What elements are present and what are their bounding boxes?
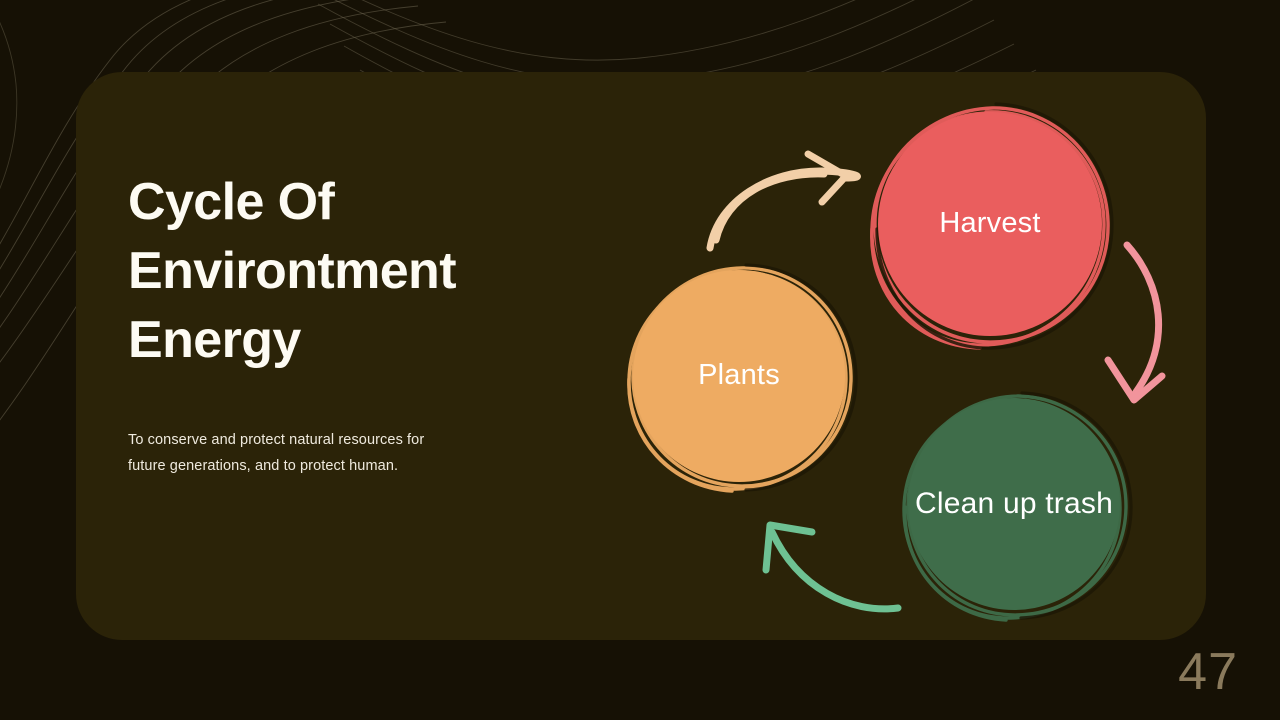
- cycle-node-plants-label: Plants: [698, 357, 780, 394]
- page-number: 47: [1178, 642, 1238, 702]
- arrow-harvest-to-trash-icon: [1108, 245, 1162, 400]
- description-text: To conserve and protect natural resource…: [128, 428, 428, 480]
- arrow-trash-to-plants-icon: [766, 525, 898, 609]
- cycle-node-harvest-label: Harvest: [939, 205, 1040, 242]
- cycle-node-plants[interactable]: Plants: [633, 270, 845, 482]
- cycle-node-clean-up-trash[interactable]: Clean up trash: [908, 398, 1120, 610]
- page-title: Cycle Of Environtment Energy: [128, 168, 548, 375]
- cycle-node-harvest[interactable]: Harvest: [878, 112, 1102, 336]
- arrow-plants-to-harvest-icon: [710, 154, 857, 248]
- slide: Cycle Of Environtment Energy To conserve…: [0, 0, 1280, 720]
- text-column: Cycle Of Environtment Energy: [128, 168, 548, 375]
- cycle-diagram: Harvest Plants Clean up trash: [600, 70, 1220, 640]
- cycle-node-clean-up-trash-label: Clean up trash: [915, 485, 1113, 523]
